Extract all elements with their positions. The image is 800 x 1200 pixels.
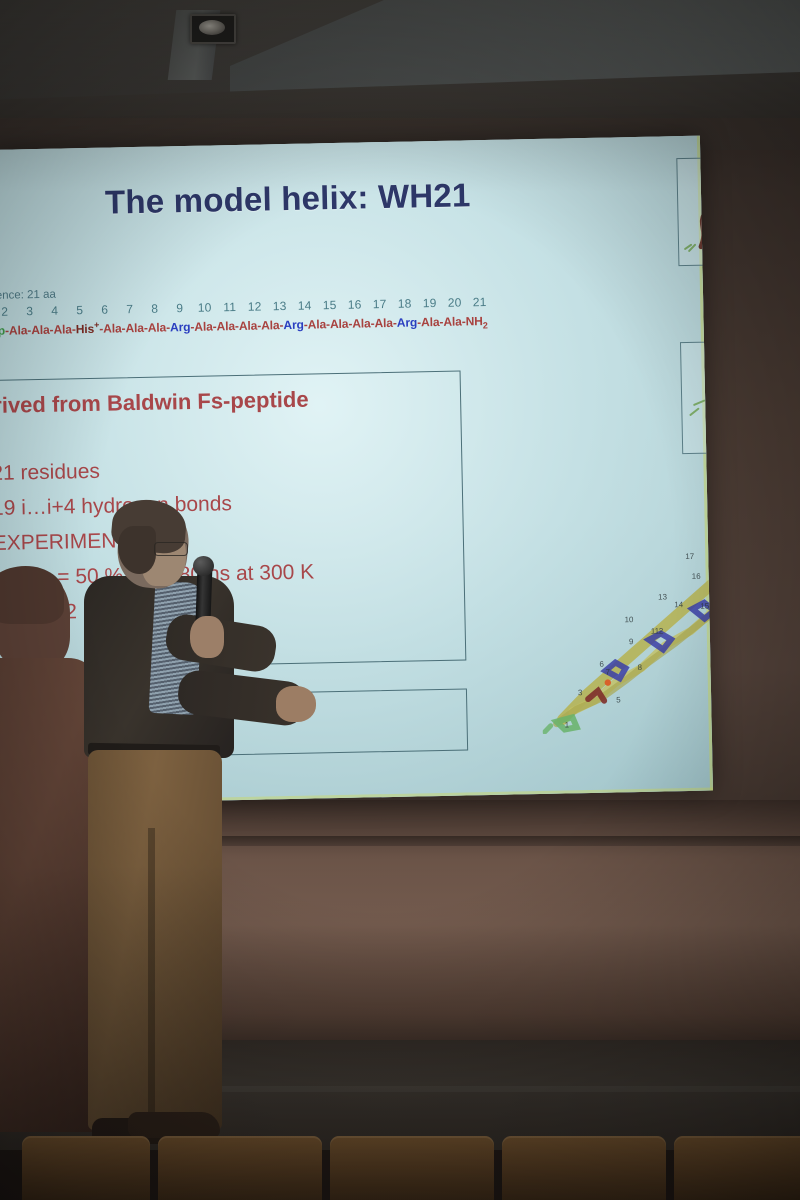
- speaker-hand-mic: [190, 616, 224, 658]
- residue-6: Ala: [103, 321, 122, 335]
- residue-11: Ala: [216, 319, 235, 333]
- audience-hair: [0, 566, 64, 624]
- residue-14: Arg: [283, 318, 304, 332]
- sequence-number: 11: [217, 300, 242, 314]
- sequence-number: 10: [192, 300, 217, 314]
- residue-12: Ala: [239, 319, 258, 333]
- svg-text:8: 8: [637, 663, 642, 672]
- sequence-block: Sequence: 21 aa 123456789101112131415161…: [0, 277, 628, 341]
- c-terminus-subscript: 2: [483, 320, 488, 330]
- residue-13: Ala: [261, 318, 280, 332]
- chair: [330, 1136, 494, 1200]
- sequence-number: 19: [417, 296, 442, 310]
- sequence-number: 14: [292, 298, 317, 312]
- chair: [158, 1136, 322, 1200]
- svg-text:10: 10: [624, 615, 634, 624]
- sequence-number: 15: [317, 298, 342, 312]
- residue-10: Ala: [194, 319, 213, 333]
- sequence-number: 6: [92, 302, 117, 316]
- svg-text:15: 15: [700, 602, 710, 611]
- residue-21: Ala: [443, 314, 462, 328]
- residue-4: Ala: [53, 322, 72, 336]
- spotlight-icon: [190, 14, 236, 44]
- chair-row: [0, 1136, 800, 1200]
- svg-text:5: 5: [616, 695, 621, 704]
- residue-8: Ala: [148, 320, 167, 334]
- svg-text:1: 1: [565, 720, 570, 729]
- chair: [22, 1136, 150, 1200]
- sequence-number: 2: [0, 304, 17, 318]
- residue-20: Ala: [421, 315, 440, 329]
- residue-3: Ala: [31, 323, 50, 337]
- residue-2: Ala: [9, 323, 28, 337]
- speaker-figure: [70, 498, 300, 1168]
- speaker-leg-seam: [148, 828, 155, 1128]
- svg-text:9: 9: [629, 637, 634, 646]
- svg-text:17: 17: [685, 552, 695, 561]
- speaker-hand-pointing: [276, 686, 316, 722]
- sequence-number: 5: [67, 303, 92, 317]
- sequence-number: 8: [142, 301, 167, 315]
- sequence-number: 4: [42, 303, 67, 317]
- residue-5: His: [76, 322, 95, 336]
- svg-text:13: 13: [658, 592, 668, 601]
- speaker-trousers: [88, 750, 222, 1130]
- residue-15: Ala: [308, 317, 327, 331]
- sequence-number: 17: [367, 297, 392, 311]
- microphone-head: [193, 556, 214, 576]
- residue-18: Ala: [374, 316, 393, 330]
- residue-17: Ala: [352, 316, 371, 330]
- sequence-number: 13: [267, 299, 292, 313]
- residue-9: Arg: [170, 320, 191, 334]
- sequence-number: 16: [342, 297, 367, 311]
- svg-text:16: 16: [692, 572, 702, 581]
- chair: [502, 1136, 666, 1200]
- svg-text:11: 11: [651, 627, 660, 636]
- svg-text:2: 2: [659, 626, 664, 635]
- residue-16: Ala: [330, 317, 349, 331]
- lecture-photo: The model helix: WH21 Sequence: 21 aa 12…: [0, 0, 800, 1200]
- sequence-number: 3: [17, 304, 42, 318]
- slide-title: The model helix: WH21: [105, 176, 471, 221]
- sequence-number: 12: [242, 299, 267, 313]
- svg-text:14: 14: [674, 600, 684, 609]
- sequence-number: 21: [467, 295, 492, 309]
- sequence-number: 20: [442, 295, 467, 309]
- residue-7: Ala: [125, 321, 144, 335]
- svg-text:3: 3: [578, 688, 583, 697]
- residue-19: Arg: [397, 315, 418, 329]
- sequence-number: 18: [392, 296, 417, 310]
- speaker-glasses: [154, 542, 188, 556]
- svg-text:6: 6: [599, 660, 604, 669]
- sequence-number: 7: [117, 302, 142, 316]
- chair: [674, 1136, 800, 1200]
- molecule-model: 1 2 3 5 6 7 8 9 10 11 13 14 15 16 17 18: [539, 519, 713, 734]
- speaker-shoe-right: [128, 1112, 220, 1138]
- svg-text:7: 7: [606, 668, 611, 677]
- sequence-number: 9: [167, 301, 192, 315]
- c-terminus: NH: [466, 314, 483, 328]
